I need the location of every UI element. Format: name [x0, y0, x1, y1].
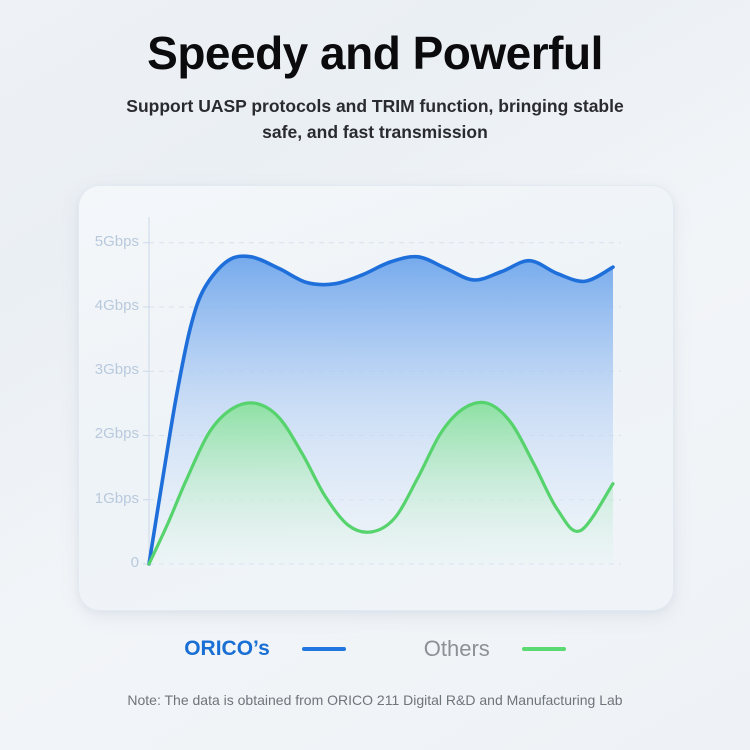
legend-item-others[interactable]: Others	[424, 636, 566, 662]
page-subtitle: Support UASP protocols and TRIM function…	[95, 94, 655, 145]
speed-comparison-chart	[79, 186, 673, 610]
chart-legend: ORICO’s Others	[0, 636, 750, 662]
y-axis-tick-label: 2Gbps	[95, 425, 139, 442]
legend-swatch-others	[522, 647, 566, 651]
subtitle-line-1: Support UASP protocols and TRIM function…	[95, 94, 655, 119]
legend-label-others: Others	[424, 636, 490, 662]
legend-swatch-orico	[302, 647, 346, 651]
promo-page: Speedy and Powerful Support UASP protoco…	[0, 0, 750, 750]
y-axis-tick-label: 0	[131, 554, 139, 571]
page-title: Speedy and Powerful	[0, 26, 750, 80]
chart-note: Note: The data is obtained from ORICO 21…	[0, 692, 750, 708]
y-axis-tick-label: 1Gbps	[95, 490, 139, 507]
page-header: Speedy and Powerful Support UASP protoco…	[0, 26, 750, 145]
y-axis-tick-label: 4Gbps	[95, 297, 139, 314]
chart-area: 5Gbps4Gbps3Gbps2Gbps1Gbps0	[79, 186, 673, 610]
legend-item-orico[interactable]: ORICO’s	[184, 637, 346, 661]
chart-card: 5Gbps4Gbps3Gbps2Gbps1Gbps0	[78, 185, 674, 611]
legend-label-orico: ORICO’s	[184, 637, 270, 661]
subtitle-line-2: safe, and fast transmission	[95, 120, 655, 145]
y-axis-tick-label: 3Gbps	[95, 361, 139, 378]
y-axis-tick-label: 5Gbps	[95, 233, 139, 250]
